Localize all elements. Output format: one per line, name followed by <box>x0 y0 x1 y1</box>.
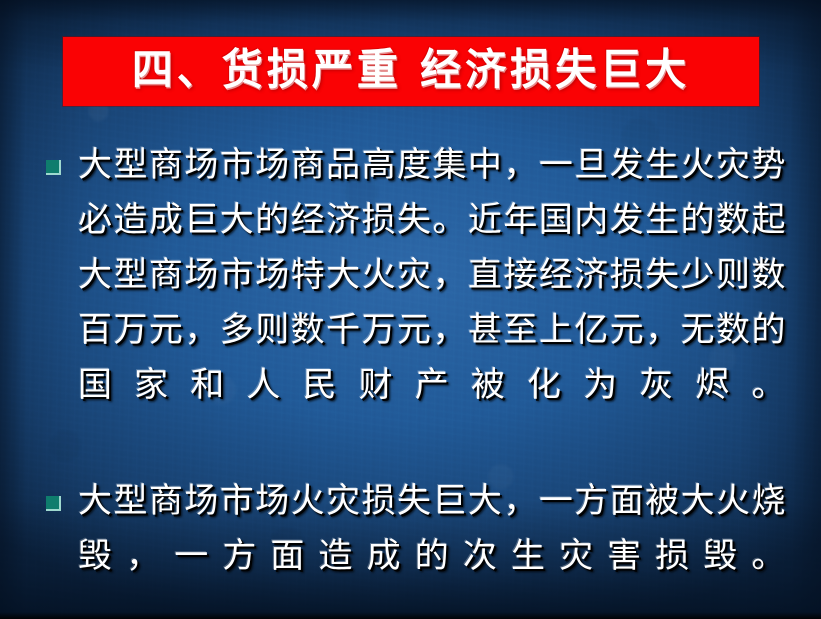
presentation-slide: 四、货损严重 经济损失巨大 大型商场市场商品高度集中，一旦发生火灾势必造成巨大的… <box>0 0 821 619</box>
slide-title: 四、货损严重 经济损失巨大 <box>132 49 690 95</box>
title-banner: 四、货损严重 经济损失巨大 <box>63 37 759 106</box>
square-bullet-icon <box>46 160 61 175</box>
list-item: 大型商场市场火灾损失巨大，一方面被大火烧毁，一方面造成的次生灾害损毁。 <box>46 474 786 619</box>
list-item: 大型商场市场商品高度集中，一旦发生火灾势必造成巨大的经济损失。近年国内发生的数起… <box>46 138 786 468</box>
list-item-text: 大型商场市场火灾损失巨大，一方面被大火烧毁，一方面造成的次生灾害损毁。 <box>78 474 786 619</box>
list-item-text: 大型商场市场商品高度集中，一旦发生火灾势必造成巨大的经济损失。近年国内发生的数起… <box>78 138 786 468</box>
square-bullet-icon <box>46 496 61 511</box>
bullet-list: 大型商场市场商品高度集中，一旦发生火灾势必造成巨大的经济损失。近年国内发生的数起… <box>46 138 786 619</box>
